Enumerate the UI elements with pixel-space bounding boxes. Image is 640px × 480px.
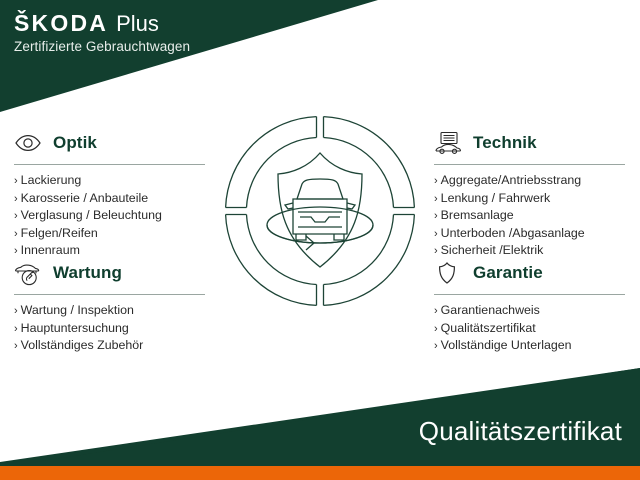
emblem-outer-ring xyxy=(226,117,415,306)
section-divider xyxy=(434,164,625,165)
list-item-label: Felgen/Reifen xyxy=(21,225,98,242)
section-garantie: Garantie › Garantienachweis › Qualitätsz… xyxy=(434,258,640,355)
section-header: Optik xyxy=(14,128,226,158)
emblem-inner-ring xyxy=(247,138,394,285)
section-title: Garantie xyxy=(473,263,543,283)
list-item: › Aggregate/Antriebsstrang xyxy=(434,172,640,190)
car-wrench-icon xyxy=(14,260,44,286)
orange-accent-bar xyxy=(0,466,640,480)
chevron-right-icon: › xyxy=(434,208,438,225)
list-item: › Verglasung / Beleuchtung xyxy=(14,207,226,225)
chevron-right-icon: › xyxy=(434,191,438,208)
chevron-right-icon: › xyxy=(434,173,438,190)
list-item-label: Lackierung xyxy=(21,172,82,189)
chevron-right-icon: › xyxy=(14,338,18,355)
brand-subtitle: Zertifizierte Gebrauchtwagen xyxy=(14,40,190,55)
list-item: › Vollständiges Zubehör xyxy=(14,337,226,355)
chevron-right-icon: › xyxy=(14,191,18,208)
section-divider xyxy=(14,294,205,295)
chevron-right-icon: › xyxy=(434,303,438,320)
chevron-right-icon: › xyxy=(434,338,438,355)
list-item-label: Aggregate/Antriebsstrang xyxy=(441,172,582,189)
chevron-right-icon: › xyxy=(14,173,18,190)
list-item-label: Lenkung / Fahrwerk xyxy=(441,190,551,207)
list-item: › Karosserie / Anbauteile xyxy=(14,190,226,208)
section-header: Garantie xyxy=(434,258,640,288)
shield-icon xyxy=(434,260,464,286)
list-item-label: Hauptuntersuchung xyxy=(21,320,129,337)
list-item-label: Garantienachweis xyxy=(441,302,540,319)
section-title: Optik xyxy=(53,133,97,153)
list-item: › Lackierung xyxy=(14,172,226,190)
section-list: › Aggregate/Antriebsstrang › Lenkung / F… xyxy=(434,172,640,260)
list-item-label: Wartung / Inspektion xyxy=(21,302,134,319)
list-item: › Hauptuntersuchung xyxy=(14,320,226,338)
eye-icon xyxy=(14,130,44,156)
chevron-right-icon: › xyxy=(434,226,438,243)
list-item-label: Unterboden /Abgasanlage xyxy=(441,225,585,242)
list-item: › Vollständige Unterlagen xyxy=(434,337,640,355)
section-wartung: Wartung › Wartung / Inspektion › Hauptun… xyxy=(14,258,226,355)
section-list: › Wartung / Inspektion › Hauptuntersuchu… xyxy=(14,302,226,355)
section-title: Technik xyxy=(473,133,537,153)
list-item-label: Qualitätszertifikat xyxy=(441,320,536,337)
list-item: › Lenkung / Fahrwerk xyxy=(434,190,640,208)
section-list: › Lackierung › Karosserie / Anbauteile ›… xyxy=(14,172,226,260)
list-item: › Unterboden /Abgasanlage xyxy=(434,225,640,243)
list-item-label: Bremsanlage xyxy=(441,207,514,224)
engine-car-icon xyxy=(434,130,464,156)
chevron-right-icon: › xyxy=(14,226,18,243)
section-optik: Optik › Lackierung › Karosserie / Anbaut… xyxy=(14,128,226,260)
chevron-right-icon: › xyxy=(14,303,18,320)
chevron-right-icon: › xyxy=(14,321,18,338)
list-item: › Garantienachweis xyxy=(434,302,640,320)
list-item-label: Vollständiges Zubehör xyxy=(21,337,144,354)
section-divider xyxy=(14,164,205,165)
chevron-right-icon: › xyxy=(14,208,18,225)
brand-name: ŠKODA xyxy=(14,12,108,35)
brand-suffix: Plus xyxy=(116,13,159,35)
shield-car-orbit-emblem xyxy=(222,113,418,309)
section-title: Wartung xyxy=(53,263,122,283)
section-technik: Technik › Aggregate/Antriebsstrang › Len… xyxy=(434,128,640,260)
section-header: Technik xyxy=(434,128,640,158)
chevron-right-icon: › xyxy=(434,321,438,338)
footer-caption: Qualitätszertifikat xyxy=(419,418,622,444)
section-header: Wartung xyxy=(14,258,226,288)
list-item: › Felgen/Reifen xyxy=(14,225,226,243)
section-divider xyxy=(434,294,625,295)
list-item-label: Sicherheit /Elektrik xyxy=(441,242,544,259)
central-emblem xyxy=(222,113,418,314)
list-item: › Bremsanlage xyxy=(434,207,640,225)
list-item-label: Verglasung / Beleuchtung xyxy=(21,207,162,224)
list-item-label: Karosserie / Anbauteile xyxy=(21,190,148,207)
list-item: › Qualitätszertifikat xyxy=(434,320,640,338)
list-item-label: Innenraum xyxy=(21,242,80,259)
list-item: › Wartung / Inspektion xyxy=(14,302,226,320)
list-item-label: Vollständige Unterlagen xyxy=(441,337,572,354)
section-list: › Garantienachweis › Qualitätszertifikat… xyxy=(434,302,640,355)
brand-logo: ŠKODA Plus Zertifizierte Gebrauchtwagen xyxy=(14,12,190,55)
certificate-page: ŠKODA Plus Zertifizierte Gebrauchtwagen xyxy=(0,0,640,480)
